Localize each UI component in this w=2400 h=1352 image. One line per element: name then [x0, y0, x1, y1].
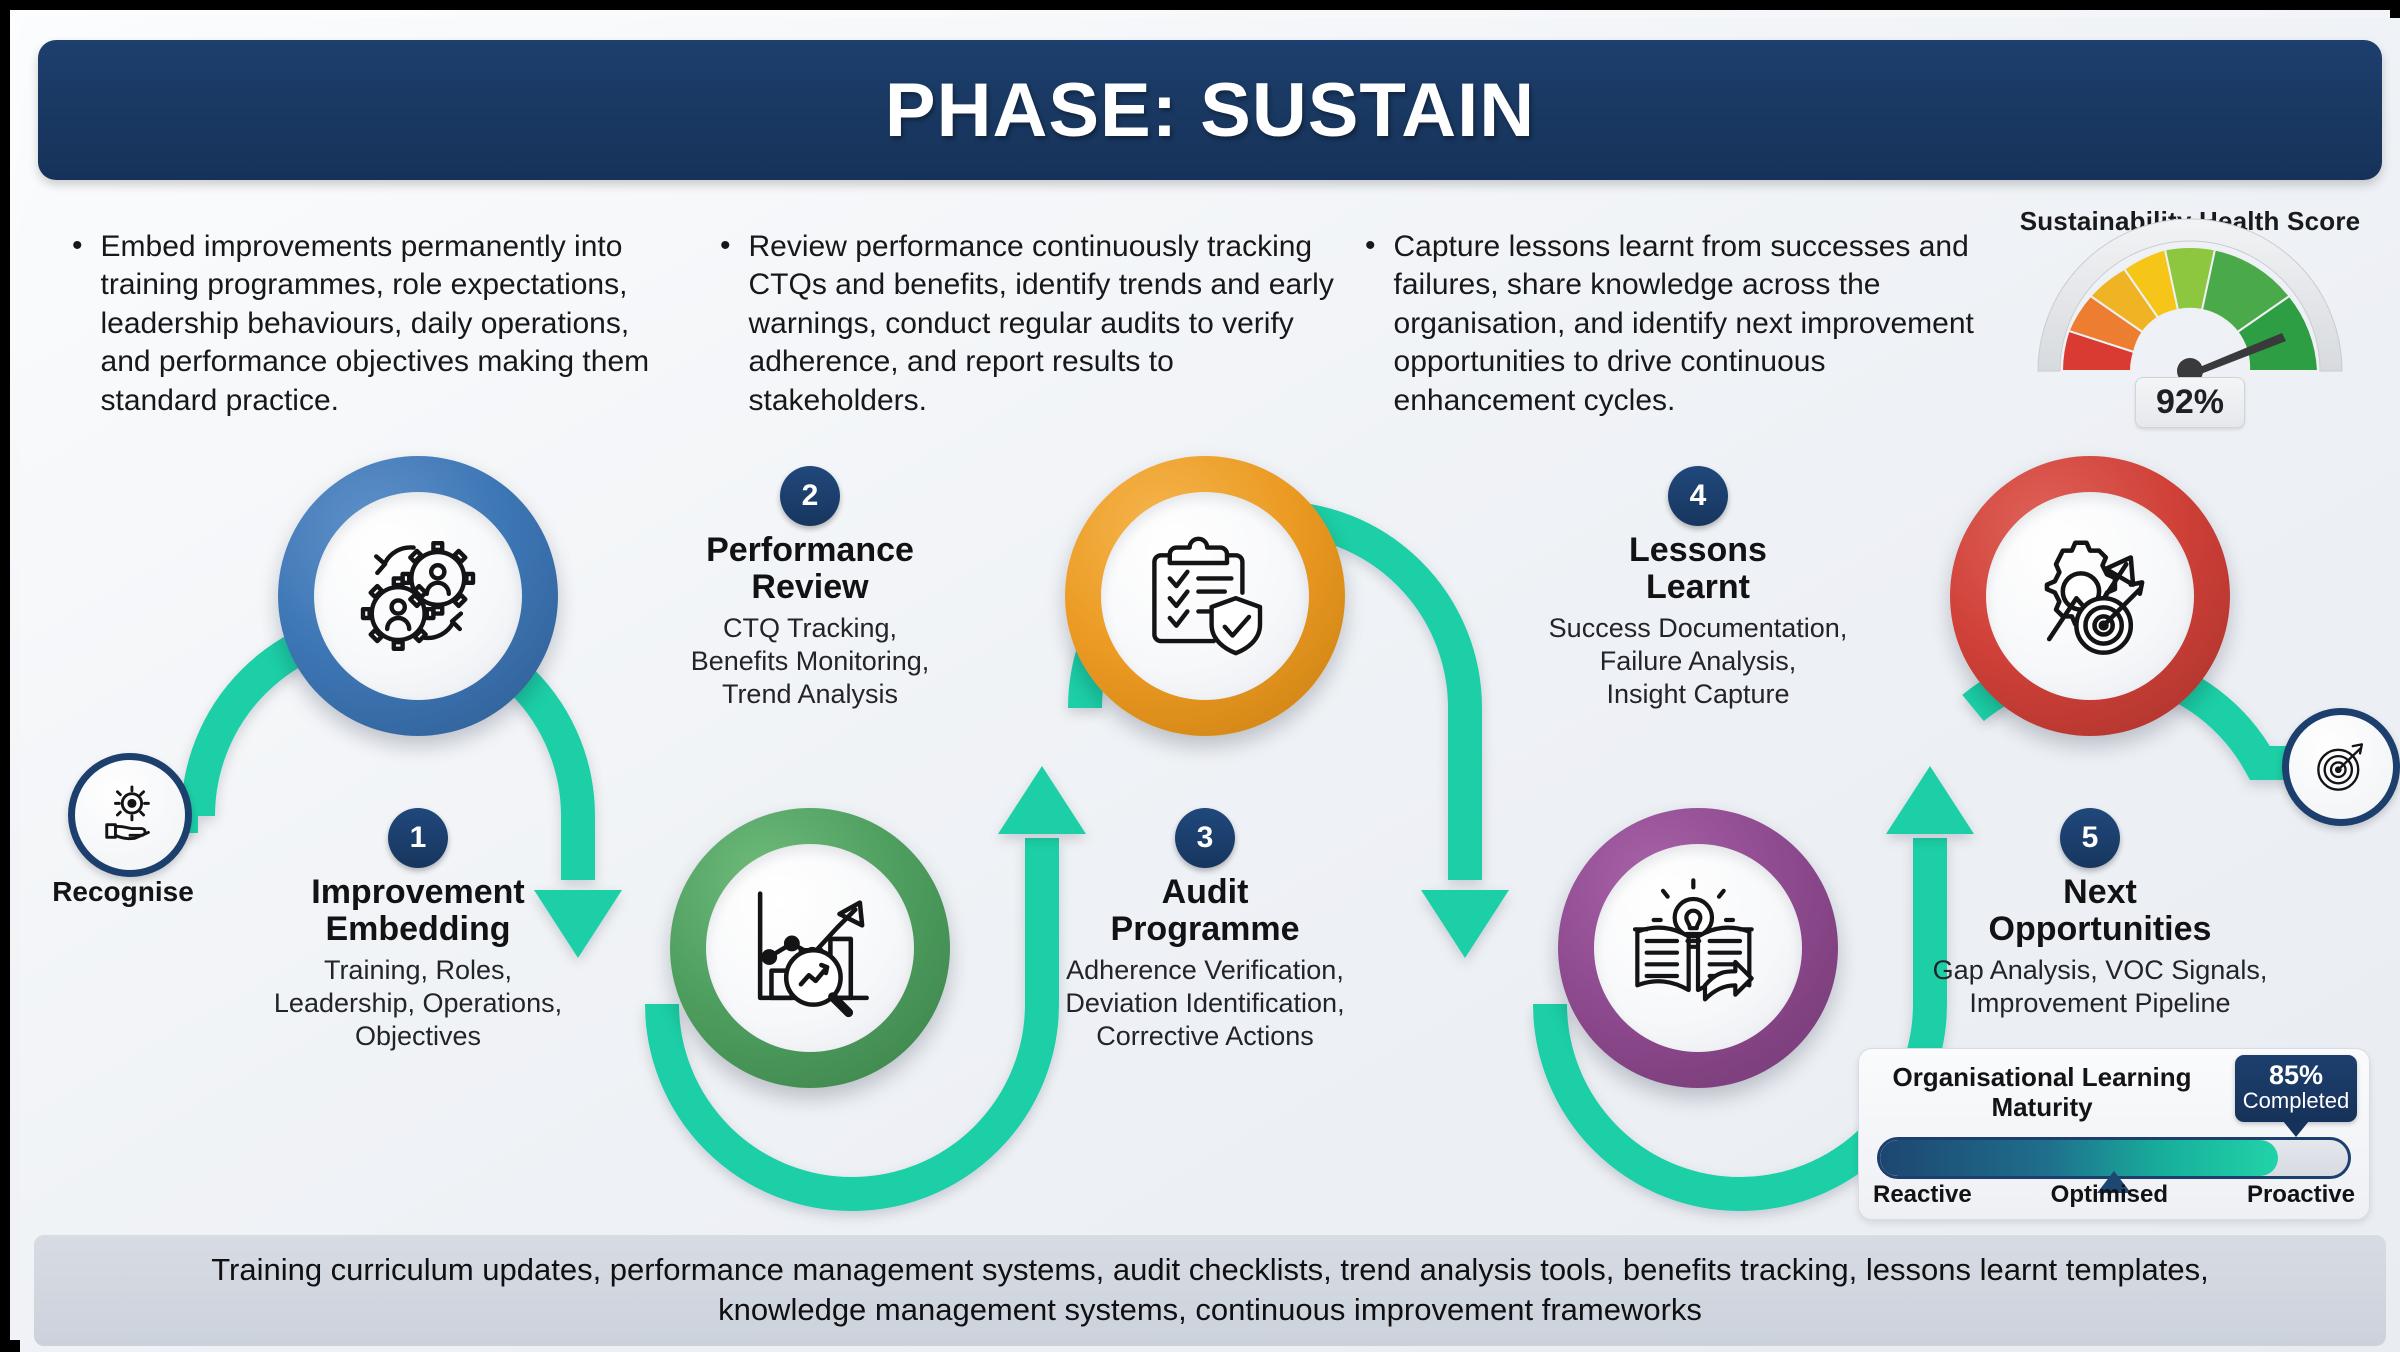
maturity-title: Organisational Learning Maturity: [1877, 1063, 2207, 1122]
bullet-text: Embed improvements permanently into trai…: [101, 228, 672, 420]
end-badge[interactable]: [2282, 708, 2400, 826]
step-3-subtitle-line3: Corrective Actions: [1002, 1020, 1408, 1053]
clipboard-shield-icon: [1139, 530, 1271, 662]
step-4-subtitle-line1: Success Documentation,: [1475, 612, 1921, 645]
step-1-subtitle-line1: Training, Roles,: [238, 954, 598, 987]
bullet-item: • Embed improvements permanently into tr…: [72, 228, 672, 420]
step-2-subtitle-line1: CTQ Tracking,: [630, 612, 990, 645]
bullet-item: • Capture lessons learnt from successes …: [1365, 228, 1985, 420]
step-3-title-line1: Audit: [1002, 874, 1408, 911]
step-2-number-badge: 2: [780, 466, 840, 526]
step-4-title-line1: Lessons: [1475, 532, 1921, 569]
maturity-percent-chip: 85% Completed: [2235, 1055, 2357, 1122]
step-5-subtitle-line1: Gap Analysis, VOC Signals,: [1892, 954, 2308, 987]
maturity-title-line1: Organisational Learning: [1877, 1063, 2207, 1093]
infographic-canvas: PHASE: SUSTAIN • Embed improvements perm…: [0, 0, 2400, 1350]
step-1-subtitle-line2: Leadership, Operations,: [238, 987, 598, 1020]
step-1-title-line2: Embedding: [238, 911, 598, 948]
footer-text: Training curriculum updates, performance…: [171, 1250, 2249, 1329]
maturity-completed-label: Completed: [2237, 1089, 2355, 1113]
step-1-icon-disc: [314, 492, 522, 700]
step-4-icon-disc: [1594, 844, 1802, 1052]
phase-header-banner: PHASE: SUSTAIN: [38, 40, 2382, 180]
flow-arrowhead-up-2: [1886, 766, 1974, 834]
step-4-ring: [1558, 808, 1838, 1088]
target-arrow-icon: [2312, 738, 2370, 796]
step-2-title-line2: Review: [630, 569, 990, 606]
step-4-number-badge: 4: [1668, 466, 1728, 526]
step-2-subtitle-line3: Trend Analysis: [630, 678, 990, 711]
bullet-text: Review performance continuously tracking…: [749, 228, 1340, 420]
step-2-title-line1: Performance: [630, 532, 990, 569]
step-3-title-line2: Programme: [1002, 911, 1408, 948]
step-5-subtitle-line2: Improvement Pipeline: [1892, 987, 2308, 1020]
step-3-subtitle-line1: Adherence Verification,: [1002, 954, 1408, 987]
flow-arrowhead-down-2: [1421, 890, 1509, 958]
step-5-ring: [1950, 456, 2230, 736]
footer-line1: Training curriculum updates, performance…: [211, 1250, 2209, 1290]
gauge-value: 92%: [2135, 377, 2245, 428]
flow-arrowhead-up-1: [998, 766, 1086, 834]
bullet-dot-icon: •: [1365, 228, 1376, 420]
step-2-labels: Performance Review CTQ Tracking, Benefit…: [630, 532, 990, 711]
step-3-labels: Audit Programme Adherence Verification, …: [1002, 874, 1408, 1053]
gauge-dial-icon: [2020, 241, 2360, 381]
maturity-title-line2: Maturity: [1877, 1093, 2207, 1123]
step-4-labels: Lessons Learnt Success Documentation, Fa…: [1475, 532, 1921, 711]
step-4-title-line2: Learnt: [1475, 569, 1921, 606]
bullet-text: Capture lessons learnt from successes an…: [1394, 228, 1985, 420]
page-title: PHASE: SUSTAIN: [885, 67, 1535, 154]
maturity-scale-mid: Optimised: [2051, 1181, 2168, 1209]
maturity-scale-high: Proactive: [2247, 1181, 2355, 1209]
step-3-subtitle-line2: Deviation Identification,: [1002, 987, 1408, 1020]
hand-gear-icon: [99, 784, 161, 846]
step-5-title-line2: Opportunities: [1892, 911, 2308, 948]
bullet-item: • Review performance continuously tracki…: [720, 228, 1340, 420]
step-4-subtitle-line2: Failure Analysis,: [1475, 645, 1921, 678]
step-5-labels: Next Opportunities Gap Analysis, VOC Sig…: [1892, 874, 2308, 1020]
maturity-scale: Reactive Optimised Proactive: [1873, 1181, 2355, 1209]
gears-people-icon: [352, 530, 484, 662]
bullet-dot-icon: •: [72, 228, 83, 420]
infographic-inner: PHASE: SUSTAIN • Embed improvements perm…: [20, 18, 2400, 1352]
bullet-dot-icon: •: [720, 228, 731, 420]
maturity-percent: 85%: [2237, 1062, 2355, 1089]
step-3-number-badge: 3: [1175, 808, 1235, 868]
step-1-title-line1: Improvement: [238, 874, 598, 911]
footer-tools-bar: Training curriculum updates, performance…: [34, 1234, 2386, 1346]
footer-line2: knowledge management systems, continuous…: [211, 1290, 2209, 1330]
bar-chart-magnifier-icon: [742, 880, 878, 1016]
step-2-ring: [670, 808, 950, 1088]
step-4-subtitle-line3: Insight Capture: [1475, 678, 1921, 711]
gear-arrow-target-icon: [2022, 528, 2158, 664]
organisational-learning-maturity-panel: Organisational Learning Maturity 85% Com…: [1858, 1048, 2370, 1220]
start-badge-label: Recognise: [38, 876, 208, 908]
step-1-number-badge: 1: [388, 808, 448, 868]
step-1-ring: [278, 456, 558, 736]
step-1-subtitle-line3: Objectives: [238, 1020, 598, 1053]
step-3-ring: [1065, 456, 1345, 736]
step-1-labels: Improvement Embedding Training, Roles, L…: [238, 874, 598, 1053]
step-2-icon-disc: [706, 844, 914, 1052]
step-2-subtitle-line2: Benefits Monitoring,: [630, 645, 990, 678]
maturity-scale-low: Reactive: [1873, 1181, 1972, 1209]
book-bulb-icon: [1628, 878, 1768, 1018]
start-badge[interactable]: [68, 753, 192, 877]
sustainability-health-gauge: Sustainability Health Score: [2005, 206, 2375, 456]
step-5-title-line1: Next: [1892, 874, 2308, 911]
step-5-icon-disc: [1986, 492, 2194, 700]
bullet-list: • Embed improvements permanently into tr…: [20, 228, 2070, 428]
step-5-number-badge: 5: [2060, 808, 2120, 868]
maturity-progress-fill: [1880, 1140, 2278, 1176]
step-3-icon-disc: [1101, 492, 1309, 700]
